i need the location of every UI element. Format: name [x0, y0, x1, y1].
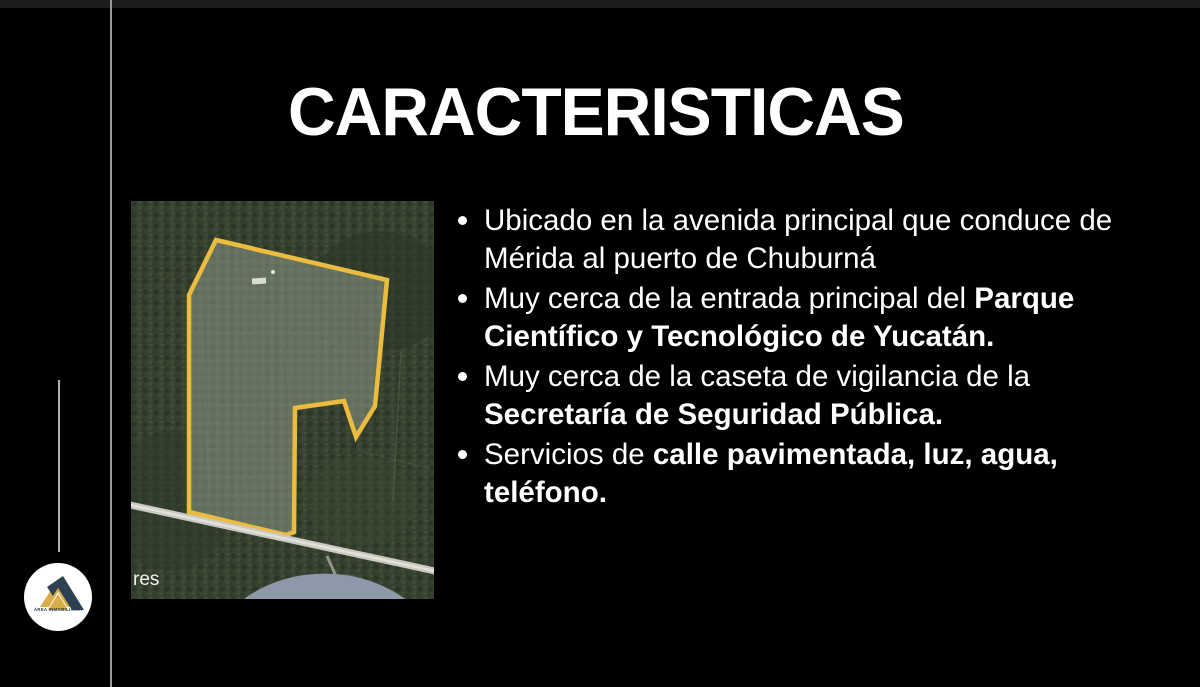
features-list: Ubicado en la avenida principal que cond… [458, 202, 1148, 514]
text-regular: Muy cerca de la entrada principal del [484, 282, 974, 315]
bullet-dot-icon [458, 372, 467, 381]
vertical-accent-line [58, 380, 60, 552]
map-partial-label: res [133, 569, 159, 591]
map-graphic [131, 201, 434, 599]
text-regular: Muy cerca de la caseta de vigilancia de … [484, 360, 1030, 393]
bullet-dot-icon [458, 294, 467, 303]
page-title: CARACTERISTICAS [288, 74, 967, 150]
bullet-dot-icon [458, 450, 467, 459]
text-regular: Ubicado en la avenida principal que cond… [484, 204, 1112, 275]
top-band [0, 0, 1200, 8]
logo-caption: ÁREA INMOBILIARIA [24, 607, 92, 612]
presentation-slide: ÁREA INMOBILIARIA CARACTERISTICAS [0, 0, 1200, 687]
text-bold: Secretaría de Seguridad Pública. [484, 398, 943, 431]
list-item: Muy cerca de la entrada principal del Pa… [458, 280, 1148, 356]
satellite-map-image: res [131, 201, 434, 599]
map-pin-icon[interactable] [173, 563, 434, 599]
bullet-dot-icon [458, 216, 467, 225]
logo-mark-icon [24, 563, 92, 631]
list-item-text: Muy cerca de la entrada principal del Pa… [484, 280, 1148, 356]
list-item: Servicios de calle pavimentada, luz, agu… [458, 436, 1148, 512]
list-item-text: Muy cerca de la caseta de vigilancia de … [484, 358, 1148, 434]
list-item: Muy cerca de la caseta de vigilancia de … [458, 358, 1148, 434]
list-item: Ubicado en la avenida principal que cond… [458, 202, 1148, 278]
list-item-text: Ubicado en la avenida principal que cond… [484, 202, 1148, 278]
area-inmobiliaria-logo: ÁREA INMOBILIARIA [24, 563, 92, 631]
vertical-divider-line [110, 0, 112, 687]
text-regular: Servicios de [484, 438, 653, 471]
list-item-text: Servicios de calle pavimentada, luz, agu… [484, 436, 1148, 512]
